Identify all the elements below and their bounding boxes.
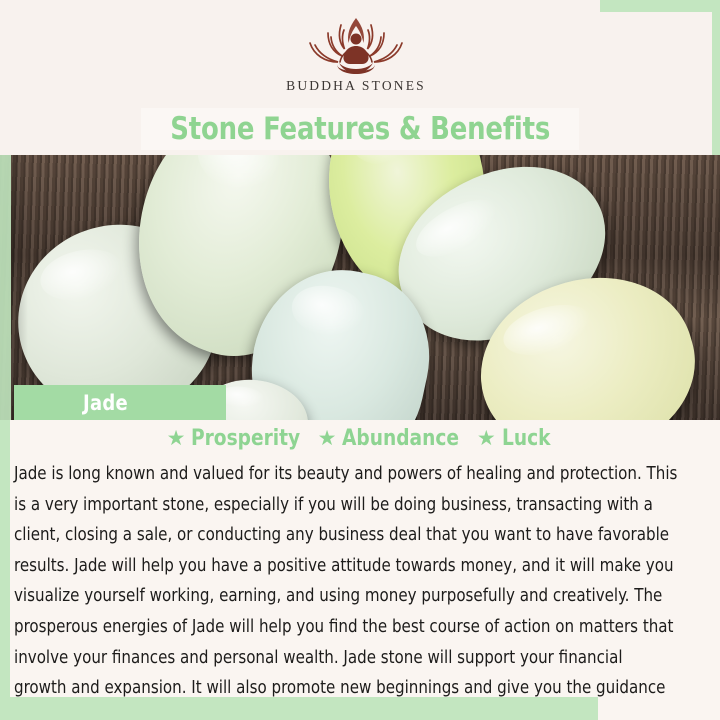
brand-name: BUDDHA STONES bbox=[286, 79, 426, 93]
header-background-extension bbox=[0, 0, 600, 12]
jade-tumbled-stones-photo bbox=[0, 155, 720, 420]
benefit-label: Prosperity bbox=[191, 428, 300, 450]
photo-left-green-rail bbox=[0, 155, 11, 420]
benefit-item-prosperity: ★ Prosperity bbox=[167, 428, 308, 450]
stone-name-band: Jade bbox=[14, 385, 226, 421]
infographic-card: BUDDHA STONES Stone Features & Benefits … bbox=[0, 0, 720, 720]
headline-band: Stone Features & Benefits bbox=[141, 108, 579, 150]
benefit-label: Luck bbox=[502, 428, 551, 450]
stone-name: Jade bbox=[83, 393, 128, 414]
top-green-accent-bar bbox=[600, 0, 720, 12]
benefit-item-abundance: ★ Abundance bbox=[318, 428, 467, 450]
bottom-cream-filler bbox=[598, 697, 720, 720]
left-green-rail bbox=[0, 420, 10, 720]
description-text: Jade is long known and valued for its be… bbox=[14, 459, 678, 720]
bottom-green-accent-shape bbox=[10, 697, 598, 720]
benefit-label: Abundance bbox=[342, 428, 459, 450]
lotus-meditation-icon bbox=[297, 14, 415, 78]
star-icon: ★ bbox=[167, 428, 186, 449]
page-title: Stone Features & Benefits bbox=[170, 114, 550, 145]
star-icon: ★ bbox=[318, 428, 337, 449]
benefit-item-luck: ★ Luck bbox=[477, 428, 553, 450]
star-icon: ★ bbox=[477, 428, 496, 449]
brand-logo-block: BUDDHA STONES bbox=[0, 14, 712, 106]
benefits-row: ★ Prosperity ★ Abundance ★ Luck bbox=[10, 428, 710, 450]
